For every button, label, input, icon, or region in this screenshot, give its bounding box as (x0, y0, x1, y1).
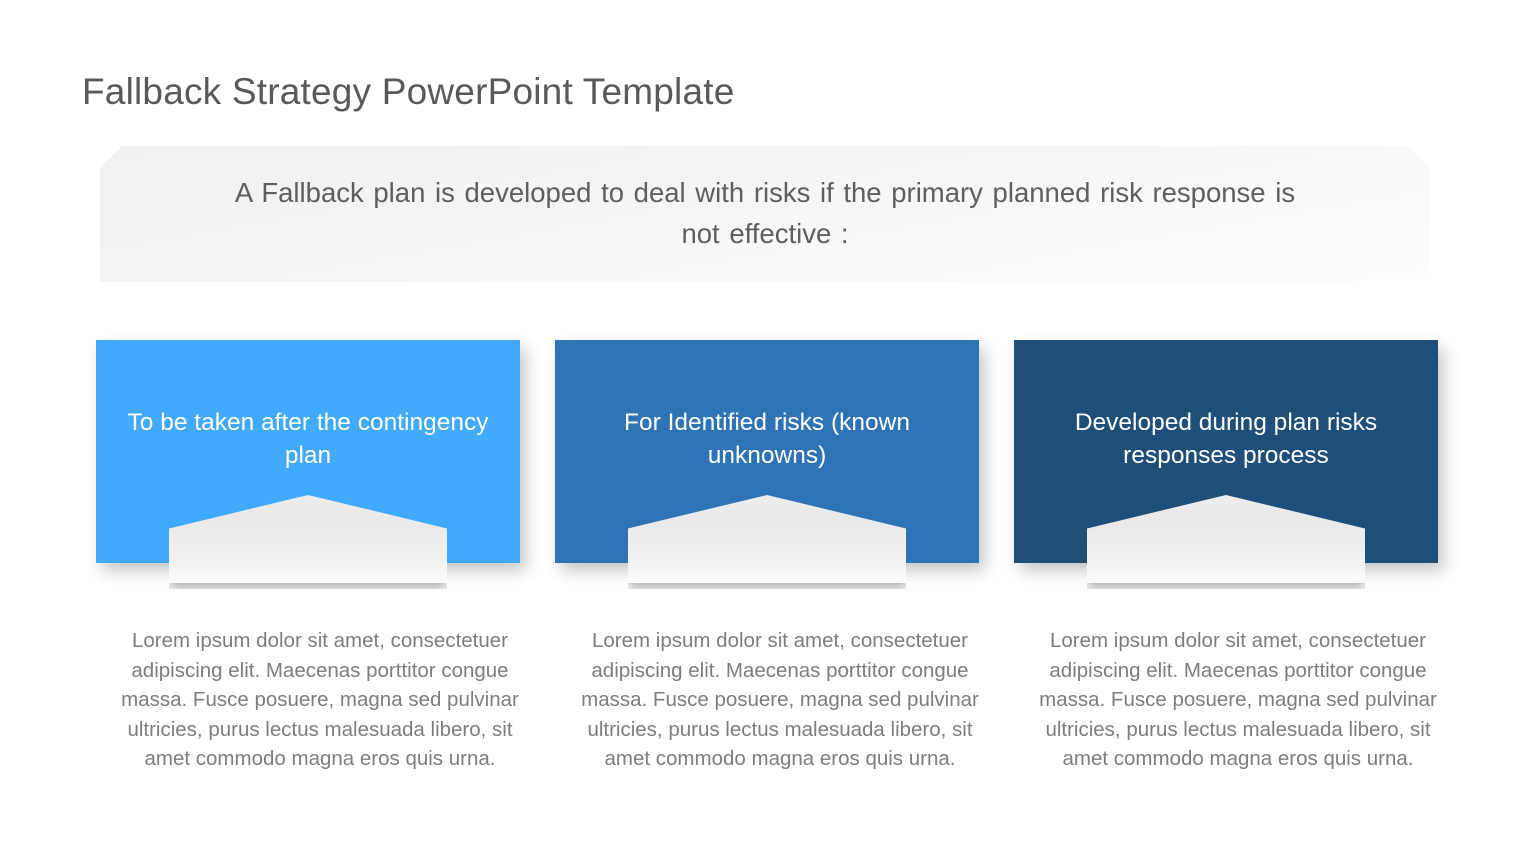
intro-banner: A Fallback plan is developed to deal wit… (100, 146, 1430, 282)
page-title: Fallback Strategy PowerPoint Template (82, 71, 734, 113)
card-2-title: For Identified risks (known unknowns) (577, 406, 957, 472)
card-3-description: Lorem ipsum dolor sit amet, consectetuer… (1038, 626, 1438, 774)
card-1[interactable]: To be taken after the contingency plan (96, 340, 520, 563)
card-2[interactable]: For Identified risks (known unknowns) (555, 340, 979, 563)
up-chevron-icon (1087, 495, 1365, 583)
up-chevron-icon (628, 495, 906, 583)
slide-canvas: Fallback Strategy PowerPoint Template A … (0, 0, 1536, 864)
card-3-title: Developed during plan risks responses pr… (1036, 406, 1416, 472)
card-2-description: Lorem ipsum dolor sit amet, consectetuer… (580, 626, 980, 774)
card-column-2: For Identified risks (known unknowns) (555, 340, 979, 563)
intro-banner-text: A Fallback plan is developed to deal wit… (215, 172, 1315, 256)
card-1-description: Lorem ipsum dolor sit amet, consectetuer… (120, 626, 520, 774)
card-3[interactable]: Developed during plan risks responses pr… (1014, 340, 1438, 563)
card-column-3: Developed during plan risks responses pr… (1014, 340, 1438, 563)
up-chevron-icon (169, 495, 447, 583)
card-column-1: To be taken after the contingency plan (96, 340, 520, 563)
card-1-title: To be taken after the contingency plan (118, 406, 498, 472)
